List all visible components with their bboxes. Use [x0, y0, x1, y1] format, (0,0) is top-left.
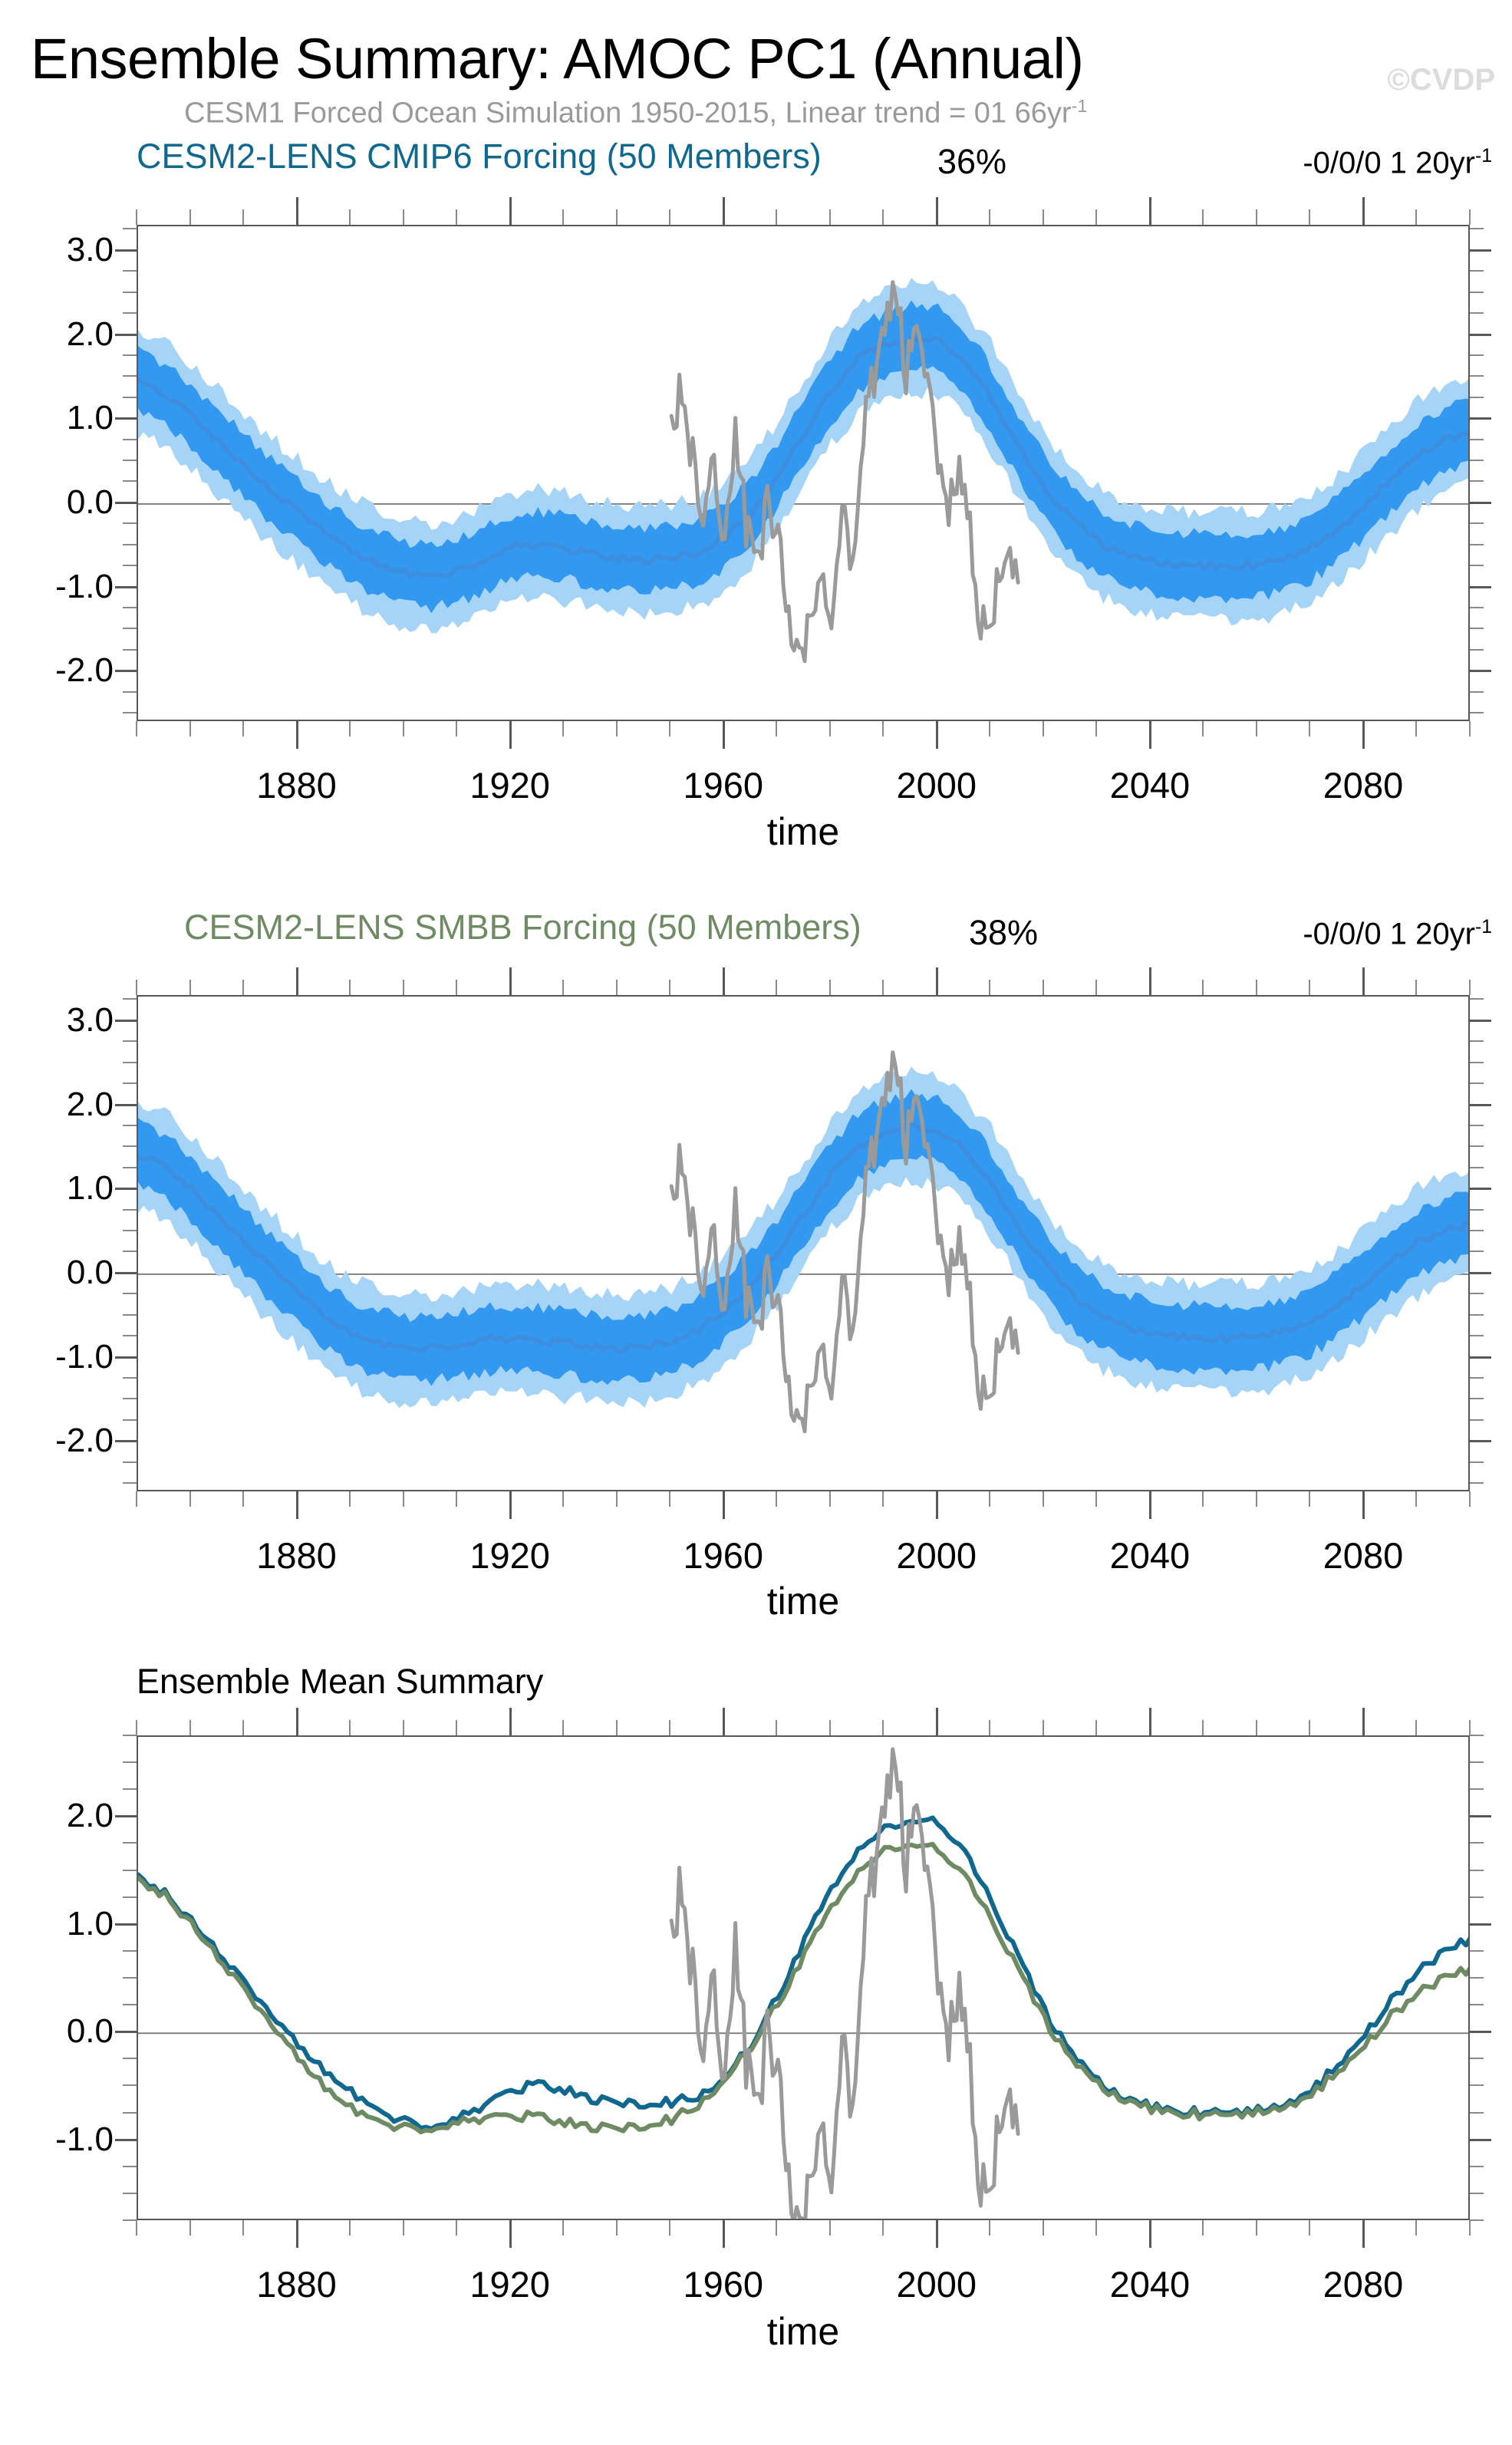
y-axis-major-tick-right: [1470, 1923, 1491, 1926]
y-axis-minor-tick-right: [1470, 998, 1484, 1000]
x-axis-minor-tick-top: [1469, 1720, 1471, 1735]
x-axis-minor-tick-top: [882, 980, 884, 995]
y-axis-minor-tick-right: [1470, 1788, 1484, 1790]
x-axis-minor-tick-top: [616, 1720, 618, 1735]
y-axis-tick-label: 1.0: [6, 1905, 114, 1943]
chart-page: Ensemble Summary: AMOC PC1 (Annual) ©CVD…: [0, 0, 1512, 2445]
y-axis-minor-tick-right: [1470, 1251, 1484, 1252]
y-axis-minor-tick-right: [1470, 607, 1484, 608]
x-axis-minor-tick-top: [989, 1720, 990, 1735]
y-axis-major-tick-right: [1470, 417, 1491, 420]
x-axis-major-tick: [723, 721, 725, 749]
y-axis-minor-tick-right: [1470, 522, 1484, 524]
y-axis-minor-tick-right: [1470, 439, 1484, 440]
y-axis-minor-tick: [123, 439, 137, 440]
x-axis-major-tick: [723, 1491, 725, 1519]
x-axis-minor-tick-top: [562, 209, 564, 225]
cvdp-watermark: ©CVDP: [1387, 63, 1495, 97]
panel-1-right-annotation: -0/0/0 1 20yr-1: [1303, 146, 1492, 180]
plot-area-1: [137, 225, 1470, 721]
x-axis-major-tick: [296, 2220, 298, 2248]
y-axis-major-tick-right: [1470, 502, 1491, 504]
x-axis-minor-tick: [1202, 2220, 1204, 2236]
x-axis-minor-tick-top: [1469, 209, 1471, 225]
x-axis-major-tick-top: [1362, 197, 1365, 225]
panel-3-header: Ensemble Mean Summary: [137, 1662, 543, 1702]
y-axis-minor-tick: [123, 649, 137, 651]
y-axis-minor-tick: [123, 1377, 137, 1379]
x-axis-minor-tick-top: [403, 980, 404, 995]
y-axis-minor-tick-right: [1470, 1896, 1484, 1898]
y-axis-minor-tick-right: [1470, 1062, 1484, 1063]
x-axis-minor-tick-top: [1202, 1720, 1204, 1735]
x-axis-major-tick-top: [296, 967, 298, 995]
x-axis-major-tick-top: [936, 967, 938, 995]
y-axis-minor-tick: [123, 1842, 137, 1844]
y-axis-minor-tick-right: [1470, 1950, 1484, 1952]
x-axis-minor-tick-top: [882, 1720, 884, 1735]
y-axis-minor-tick-right: [1470, 1461, 1484, 1463]
y-axis-minor-tick-right: [1470, 649, 1484, 651]
y-axis-minor-tick: [123, 628, 137, 629]
y-axis-minor-tick-right: [1470, 354, 1484, 356]
x-axis-minor-tick-top: [1415, 209, 1417, 225]
subtitle-text: CESM1 Forced Ocean Simulation 1950-2015,…: [184, 97, 1072, 130]
x-axis-minor-tick-top: [1095, 980, 1097, 995]
y-axis-minor-tick: [123, 1145, 137, 1147]
y-axis-minor-tick: [123, 607, 137, 608]
y-axis-minor-tick: [123, 1735, 137, 1736]
y-axis-minor-tick: [123, 998, 137, 1000]
x-axis-minor-tick: [1415, 2220, 1417, 2236]
x-axis-minor-tick: [989, 1491, 990, 1507]
y-axis-minor-tick-right: [1470, 691, 1484, 693]
y-axis-minor-tick-right: [1470, 628, 1484, 629]
panel-1-header: CESM2-LENS CMIP6 Forcing (50 Members): [137, 137, 822, 176]
x-axis-minor-tick-top: [189, 209, 191, 225]
x-axis-minor-tick-top: [1095, 209, 1097, 225]
x-axis-minor-tick: [1202, 721, 1204, 736]
x-axis-minor-tick-top: [349, 1720, 351, 1735]
x-axis-minor-tick: [136, 721, 137, 736]
x-axis-minor-tick: [403, 2220, 404, 2236]
confidence-band-66: [138, 300, 1468, 613]
y-axis-minor-tick: [123, 1788, 137, 1790]
y-axis-major-tick: [115, 2031, 137, 2033]
x-axis-tick-label: 2040: [1110, 2263, 1191, 2305]
x-axis-minor-tick-top: [403, 209, 404, 225]
x-axis-minor-tick: [562, 1491, 564, 1507]
x-axis-minor-tick: [1095, 721, 1097, 736]
y-axis-minor-tick: [123, 1209, 137, 1211]
y-axis-minor-tick: [123, 480, 137, 482]
x-axis-minor-tick: [776, 721, 777, 736]
x-axis-minor-tick: [616, 2220, 618, 2236]
x-axis-minor-tick: [1469, 2220, 1471, 2236]
x-axis-minor-tick: [136, 2220, 137, 2236]
x-axis-minor-tick: [349, 1491, 351, 1507]
y-axis-minor-tick: [123, 1062, 137, 1063]
x-axis-tick-label: 1920: [469, 1534, 550, 1577]
x-axis-minor-tick-top: [776, 980, 777, 995]
y-axis-minor-tick-right: [1470, 1761, 1484, 1763]
x-axis-minor-tick: [189, 721, 191, 736]
x-axis-minor-tick-top: [136, 209, 137, 225]
y-axis-major-tick-right: [1470, 670, 1491, 672]
y-axis-major-tick: [115, 1923, 137, 1926]
x-axis-minor-tick-top: [1202, 209, 1204, 225]
x-axis-tick-label: 1960: [683, 764, 763, 806]
x-axis-minor-tick: [349, 2220, 351, 2236]
x-axis-major-tick-top: [509, 1708, 512, 1735]
x-axis-minor-tick-top: [403, 1720, 404, 1735]
x-axis-minor-tick-top: [829, 209, 831, 225]
x-axis-minor-tick-top: [616, 980, 618, 995]
y-axis-minor-tick: [123, 565, 137, 566]
y-axis-minor-tick-right: [1470, 2004, 1484, 2005]
y-axis-minor-tick: [123, 2219, 137, 2221]
y-axis-minor-tick-right: [1470, 1314, 1484, 1316]
x-axis-minor-tick: [456, 2220, 457, 2236]
x-axis-minor-tick-top: [1256, 209, 1257, 225]
panel-2-annot-sup: -1: [1475, 917, 1492, 937]
y-axis-major-tick-right: [1470, 2031, 1491, 2033]
y-axis-major-tick-right: [1470, 586, 1491, 588]
x-axis-minor-tick: [1309, 2220, 1310, 2236]
y-axis-tick-label: 0.0: [6, 2012, 114, 2051]
x-axis-major-tick: [1362, 2220, 1365, 2248]
y-axis-minor-tick-right: [1470, 2219, 1484, 2221]
x-axis-minor-tick-top: [669, 209, 670, 225]
y-axis-minor-tick: [123, 1977, 137, 1979]
panel-2-header: CESM2-LENS SMBB Forcing (50 Members): [184, 908, 861, 947]
x-axis-minor-tick-top: [1256, 980, 1257, 995]
y-axis-tick-label: 2.0: [6, 1797, 114, 1835]
panel-2-percent-overlay: 38%: [969, 913, 1038, 953]
x-axis-minor-tick: [669, 2220, 670, 2236]
plot-curves-1: [138, 226, 1468, 720]
y-axis-minor-tick-right: [1470, 1842, 1484, 1844]
y-axis-minor-tick: [123, 2058, 137, 2059]
x-axis-tick-label: 1920: [469, 764, 550, 806]
y-axis-major-tick: [115, 502, 137, 504]
x-axis-minor-tick-top: [989, 980, 990, 995]
x-axis-minor-tick: [189, 2220, 191, 2236]
y-axis-major-tick: [115, 249, 137, 252]
x-axis-minor-tick: [1469, 1491, 1471, 1507]
x-axis-minor-tick-top: [349, 209, 351, 225]
y-axis-minor-tick: [123, 1167, 137, 1168]
y-axis-minor-tick: [123, 2166, 137, 2167]
y-axis-minor-tick-right: [1470, 460, 1484, 461]
x-axis-major-tick: [936, 1491, 938, 1519]
y-axis-major-tick-right: [1470, 1815, 1491, 1817]
x-axis-minor-tick: [1415, 1491, 1417, 1507]
y-axis-major-tick: [115, 2139, 137, 2141]
x-axis-minor-tick: [1202, 1491, 1204, 1507]
x-axis-tick-label: 1880: [256, 764, 337, 806]
x-axis-minor-tick-top: [242, 1720, 244, 1735]
x-axis-major-tick: [509, 2220, 512, 2248]
y-axis-major-tick: [115, 1815, 137, 1817]
y-axis-major-tick-right: [1470, 1020, 1491, 1022]
x-axis-minor-tick: [1415, 721, 1417, 736]
y-axis-minor-tick: [123, 1314, 137, 1316]
x-axis-major-tick: [1362, 1491, 1365, 1519]
x-axis-minor-tick-top: [1043, 209, 1044, 225]
x-axis-minor-tick-top: [1309, 980, 1310, 995]
panel-2-annot-text: -0/0/0 1 20yr: [1303, 917, 1475, 951]
x-axis-major-tick-top: [509, 197, 512, 225]
x-axis-tick-label: 2000: [897, 2263, 977, 2305]
x-axis-minor-tick-top: [562, 980, 564, 995]
x-axis-minor-tick: [989, 721, 990, 736]
y-axis-minor-tick: [123, 2004, 137, 2005]
series-line: [138, 1844, 1468, 2132]
y-axis-tick-label: 3.0: [6, 231, 114, 269]
x-axis-minor-tick: [989, 2220, 990, 2236]
y-axis-major-tick: [115, 1188, 137, 1190]
x-axis-minor-tick-top: [616, 209, 618, 225]
x-axis-minor-tick-top: [456, 1720, 457, 1735]
plot-area-3: [137, 1735, 1470, 2220]
x-axis-tick-label: 2080: [1323, 1534, 1404, 1577]
y-axis-minor-tick-right: [1470, 1230, 1484, 1231]
y-axis-minor-tick-right: [1470, 1335, 1484, 1336]
panel-1-percent-overlay: 36%: [937, 142, 1006, 182]
y-axis-tick-label: -1.0: [6, 568, 114, 606]
x-axis-minor-tick: [1043, 2220, 1044, 2236]
y-axis-minor-tick: [123, 2193, 137, 2194]
y-axis-minor-tick-right: [1470, 2058, 1484, 2059]
confidence-band-66: [138, 1089, 1468, 1386]
x-axis-major-tick: [509, 721, 512, 749]
x-axis-major-tick: [1149, 721, 1151, 749]
y-axis-major-tick: [115, 1440, 137, 1442]
y-axis-tick-label: 2.0: [6, 315, 114, 354]
y-axis-major-tick: [115, 586, 137, 588]
y-axis-minor-tick-right: [1470, 2193, 1484, 2194]
y-axis-minor-tick: [123, 1293, 137, 1294]
x-axis-minor-tick-top: [1043, 980, 1044, 995]
y-axis-minor-tick: [123, 1761, 137, 1763]
series-line: [138, 1817, 1468, 2129]
series-line: [671, 1749, 1018, 2219]
x-axis-tick-label: 1880: [256, 1534, 337, 1577]
y-axis-minor-tick-right: [1470, 1167, 1484, 1168]
y-axis-major-tick: [115, 1104, 137, 1106]
y-axis-minor-tick-right: [1470, 312, 1484, 314]
x-axis-minor-tick: [136, 1491, 137, 1507]
x-axis-major-tick-top: [1362, 1708, 1365, 1735]
y-axis-major-tick-right: [1470, 1188, 1491, 1190]
y-axis-tick-label: 0.0: [6, 1254, 114, 1292]
y-axis-minor-tick: [123, 1896, 137, 1898]
x-axis-major-tick-top: [1149, 1708, 1151, 1735]
y-axis-minor-tick: [123, 1398, 137, 1399]
y-axis-tick-label: 1.0: [6, 1169, 114, 1208]
y-axis-tick-label: 3.0: [6, 1001, 114, 1040]
x-axis-major-tick-top: [1362, 967, 1365, 995]
y-axis-minor-tick-right: [1470, 1419, 1484, 1421]
y-axis-minor-tick-right: [1470, 1040, 1484, 1042]
x-axis-minor-tick: [1469, 721, 1471, 736]
x-axis-minor-tick: [776, 2220, 777, 2236]
y-axis-minor-tick: [123, 1125, 137, 1126]
y-axis-minor-tick: [123, 522, 137, 524]
x-axis-minor-tick: [242, 721, 244, 736]
y-axis-tick-label: -2.0: [6, 1422, 114, 1460]
x-axis-minor-tick-top: [456, 980, 457, 995]
y-axis-minor-tick-right: [1470, 1870, 1484, 1871]
y-axis-minor-tick-right: [1470, 1398, 1484, 1399]
x-axis-major-tick: [296, 721, 298, 749]
y-axis-minor-tick: [123, 1230, 137, 1231]
x-axis-title: time: [767, 809, 839, 854]
x-axis-minor-tick: [829, 2220, 831, 2236]
y-axis-major-tick-right: [1470, 334, 1491, 336]
y-axis-minor-tick: [123, 691, 137, 693]
y-axis-tick-label: 1.0: [6, 399, 114, 437]
x-axis-minor-tick: [669, 1491, 670, 1507]
x-axis-minor-tick: [882, 1491, 884, 1507]
y-axis-minor-tick-right: [1470, 544, 1484, 545]
x-axis-minor-tick: [403, 1491, 404, 1507]
x-axis-minor-tick: [829, 1491, 831, 1507]
y-axis-major-tick-right: [1470, 1440, 1491, 1442]
x-axis-major-tick-top: [723, 197, 725, 225]
x-axis-minor-tick: [562, 721, 564, 736]
x-axis-tick-label: 1880: [256, 2263, 337, 2305]
y-axis-major-tick: [115, 670, 137, 672]
y-axis-major-tick: [115, 1020, 137, 1022]
x-axis-minor-tick-top: [989, 209, 990, 225]
y-axis-minor-tick: [123, 1461, 137, 1463]
x-axis-major-tick-top: [296, 197, 298, 225]
x-axis-minor-tick-top: [1309, 209, 1310, 225]
x-axis-major-tick-top: [936, 1708, 938, 1735]
y-axis-tick-label: -1.0: [6, 2120, 114, 2159]
x-axis-minor-tick: [403, 721, 404, 736]
x-axis-major-tick-top: [509, 967, 512, 995]
x-axis-minor-tick-top: [1256, 1720, 1257, 1735]
y-axis-minor-tick-right: [1470, 228, 1484, 229]
y-axis-minor-tick: [123, 544, 137, 545]
x-axis-minor-tick: [1095, 2220, 1097, 2236]
x-axis-minor-tick: [1043, 721, 1044, 736]
x-axis-minor-tick-top: [456, 209, 457, 225]
subtitle-superscript: -1: [1072, 96, 1088, 116]
x-axis-minor-tick: [616, 1491, 618, 1507]
y-axis-minor-tick-right: [1470, 1082, 1484, 1084]
y-axis-minor-tick-right: [1470, 1145, 1484, 1147]
y-axis-minor-tick: [123, 354, 137, 356]
y-axis-major-tick-right: [1470, 1356, 1491, 1359]
y-axis-minor-tick: [123, 2112, 137, 2114]
y-axis-major-tick: [115, 334, 137, 336]
x-axis-minor-tick-top: [242, 209, 244, 225]
x-axis-major-tick-top: [723, 1708, 725, 1735]
x-axis-major-tick: [1149, 1491, 1151, 1519]
y-axis-minor-tick: [123, 1082, 137, 1084]
y-axis-minor-tick: [123, 375, 137, 377]
x-axis-tick-label: 2040: [1110, 1534, 1191, 1577]
x-axis-minor-tick: [776, 1491, 777, 1507]
y-axis-minor-tick-right: [1470, 270, 1484, 272]
y-axis-minor-tick: [123, 228, 137, 229]
chart-subtitle: CESM1 Forced Ocean Simulation 1950-2015,…: [184, 96, 1087, 130]
y-axis-minor-tick: [123, 312, 137, 314]
plot-curves-3: [138, 1737, 1468, 2219]
x-axis-minor-tick: [349, 721, 351, 736]
y-axis-major-tick: [115, 1272, 137, 1274]
x-axis-minor-tick-top: [1309, 1720, 1310, 1735]
x-axis-minor-tick-top: [562, 1720, 564, 1735]
x-axis-major-tick: [1149, 2220, 1151, 2248]
x-axis-minor-tick-top: [882, 209, 884, 225]
y-axis-minor-tick: [123, 270, 137, 272]
x-axis-minor-tick: [242, 1491, 244, 1507]
x-axis-major-tick-top: [723, 967, 725, 995]
y-axis-minor-tick: [123, 1335, 137, 1336]
y-axis-minor-tick: [123, 1482, 137, 1484]
x-axis-minor-tick-top: [136, 980, 137, 995]
x-axis-minor-tick: [456, 721, 457, 736]
x-axis-minor-tick: [1309, 1491, 1310, 1507]
x-axis-minor-tick: [1256, 721, 1257, 736]
x-axis-minor-tick: [242, 2220, 244, 2236]
x-axis-major-tick-top: [1149, 967, 1151, 995]
y-axis-minor-tick: [123, 1419, 137, 1421]
y-axis-minor-tick: [123, 1950, 137, 1952]
x-axis-minor-tick: [616, 721, 618, 736]
x-axis-major-tick: [296, 1491, 298, 1519]
x-axis-minor-tick-top: [829, 980, 831, 995]
y-axis-major-tick-right: [1470, 249, 1491, 252]
x-axis-minor-tick: [882, 2220, 884, 2236]
x-axis-minor-tick-top: [189, 980, 191, 995]
x-axis-major-tick: [1362, 721, 1365, 749]
y-axis-minor-tick-right: [1470, 2084, 1484, 2086]
x-axis-minor-tick: [1043, 1491, 1044, 1507]
x-axis-tick-label: 2040: [1110, 764, 1191, 806]
x-axis-minor-tick-top: [669, 1720, 670, 1735]
y-axis-minor-tick-right: [1470, 1977, 1484, 1979]
x-axis-minor-tick: [669, 721, 670, 736]
x-axis-tick-label: 1960: [683, 1534, 763, 1577]
x-axis-title: time: [767, 2309, 839, 2354]
y-axis-minor-tick: [123, 1040, 137, 1042]
x-axis-minor-tick-top: [1095, 1720, 1097, 1735]
x-axis-minor-tick-top: [829, 1720, 831, 1735]
x-axis-major-tick: [936, 721, 938, 749]
y-axis-minor-tick-right: [1470, 397, 1484, 398]
x-axis-minor-tick: [882, 721, 884, 736]
y-axis-minor-tick-right: [1470, 712, 1484, 713]
y-axis-minor-tick-right: [1470, 480, 1484, 482]
x-axis-minor-tick-top: [1202, 980, 1204, 995]
y-axis-major-tick: [115, 1356, 137, 1359]
y-axis-minor-tick: [123, 292, 137, 293]
x-axis-tick-label: 2000: [897, 764, 977, 806]
x-axis-minor-tick-top: [1043, 1720, 1044, 1735]
x-axis-minor-tick-top: [1415, 980, 1417, 995]
plot-curves-2: [138, 997, 1468, 1490]
x-axis-major-tick: [936, 2220, 938, 2248]
y-axis-minor-tick-right: [1470, 1377, 1484, 1379]
y-axis-minor-tick: [123, 712, 137, 713]
y-axis-minor-tick: [123, 397, 137, 398]
